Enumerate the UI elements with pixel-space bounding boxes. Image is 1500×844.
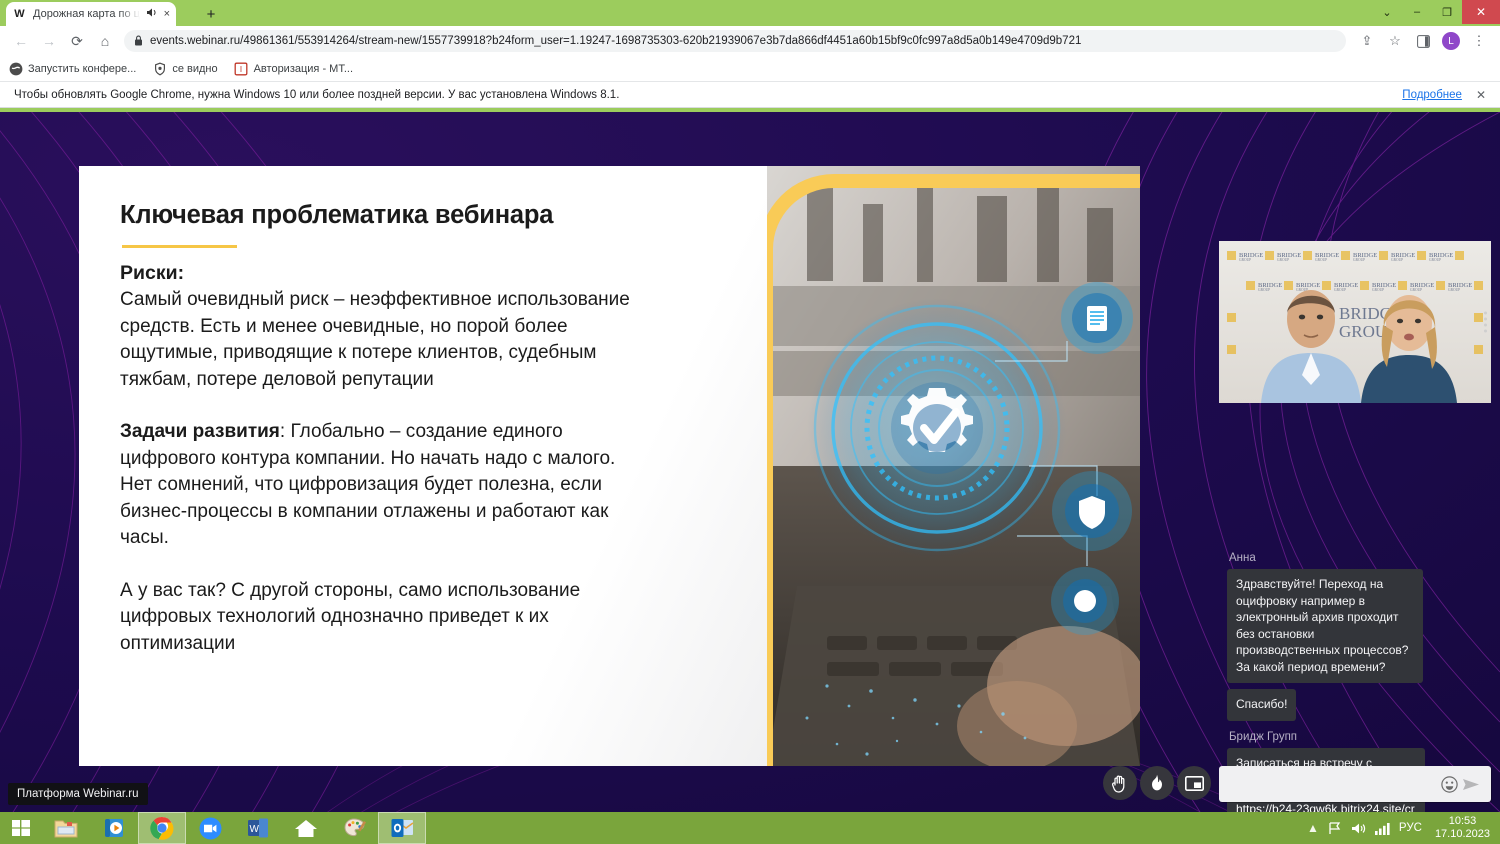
speaker-icon[interactable] bbox=[146, 7, 158, 21]
lock-icon bbox=[134, 35, 143, 48]
network-icon[interactable] bbox=[1328, 822, 1342, 835]
presenter-video[interactable]: BRIDGEBRIDGE BRIDGEBRIDGE BRIDGEBRIDGE B… bbox=[1219, 241, 1491, 403]
infobar-learn-more-link[interactable]: Подробнее bbox=[1402, 89, 1462, 101]
windows-logo-icon bbox=[11, 818, 31, 838]
home-button[interactable]: ⌂ bbox=[92, 28, 118, 54]
svg-text:GROUP: GROUP bbox=[1391, 258, 1403, 262]
signal-bars-icon[interactable] bbox=[1375, 822, 1390, 835]
share-icon[interactable]: ⇪ bbox=[1354, 28, 1380, 54]
svg-text:GROUP: GROUP bbox=[1239, 258, 1251, 262]
bookmark-label: Запустить конфере... bbox=[28, 63, 136, 75]
status-tooltip: Платформа Webinar.ru bbox=[8, 783, 148, 805]
profile-avatar[interactable]: L bbox=[1442, 32, 1460, 50]
svg-text:GROUP: GROUP bbox=[1353, 258, 1365, 262]
clock[interactable]: 10:53 17.10.2023 bbox=[1431, 815, 1490, 841]
taskbar-apps: W bbox=[42, 812, 426, 844]
chat-input-wrapper[interactable] bbox=[1219, 766, 1491, 802]
bookmark-label: Авторизация - МТ... bbox=[254, 63, 353, 75]
chrome-browser-window: W Дорожная карта по цифров × + ⌄ – ❐ ✕ ←… bbox=[0, 0, 1500, 812]
svg-text:GROUP: GROUP bbox=[1258, 288, 1270, 292]
tab-close-icon[interactable]: × bbox=[164, 8, 170, 20]
paint-palette-icon bbox=[343, 817, 366, 840]
fire-reaction-button[interactable] bbox=[1140, 766, 1174, 800]
bookmark-item[interactable]: се видно bbox=[152, 61, 217, 76]
chrome-menu-icon[interactable]: ⋮ bbox=[1466, 28, 1492, 54]
slide-paragraph-goals: Задачи развития: Глобально – создание ед… bbox=[120, 419, 630, 552]
webinar-page: Ключевая проблематика вебинара Риски: Са… bbox=[0, 112, 1500, 812]
svg-text:GROUP: GROUP bbox=[1334, 288, 1346, 292]
bookmarks-bar: Запустить конфере... се видно I Авториза… bbox=[0, 56, 1500, 82]
bookmark-label: се видно bbox=[172, 63, 217, 75]
send-arrow-icon[interactable] bbox=[1460, 777, 1482, 792]
volume-icon[interactable] bbox=[1351, 822, 1366, 835]
infobar-actions: Подробнее ✕ bbox=[1402, 88, 1486, 102]
minimize-button[interactable]: – bbox=[1402, 0, 1432, 24]
side-panel-icon[interactable] bbox=[1410, 28, 1436, 54]
taskbar-item-file-explorer[interactable] bbox=[42, 812, 90, 844]
infobar-close-icon[interactable]: ✕ bbox=[1476, 88, 1486, 102]
slide-text-column: Ключевая проблематика вебинара Риски: Са… bbox=[79, 166, 767, 766]
tab-search-chevron-icon[interactable]: ⌄ bbox=[1372, 0, 1402, 24]
chat-author-name: Бридж Групп bbox=[1229, 731, 1492, 743]
taskbar-item-home-app[interactable] bbox=[282, 812, 330, 844]
clock-date: 17.10.2023 bbox=[1435, 828, 1490, 841]
browser-toolbar: ← → ⟳ ⌂ events.webinar.ru/49861361/55391… bbox=[0, 26, 1500, 56]
forward-button[interactable]: → bbox=[36, 28, 62, 54]
folder-icon bbox=[54, 817, 78, 839]
slide-subtitle-risks: Риски: bbox=[120, 262, 767, 285]
bookmark-item[interactable]: I Авторизация - МТ... bbox=[234, 61, 353, 76]
window-controls: ⌄ – ❐ ✕ bbox=[1372, 0, 1500, 24]
chat-input[interactable] bbox=[1228, 777, 1438, 791]
svg-text:GROUP: GROUP bbox=[1429, 258, 1441, 262]
taskbar-item-google-chrome[interactable] bbox=[138, 812, 186, 844]
raise-hand-button[interactable] bbox=[1103, 766, 1137, 800]
taskbar-item-microsoft-word[interactable]: W bbox=[234, 812, 282, 844]
chrome-icon bbox=[150, 816, 174, 840]
chat-message: Здравствуйте! Переход на оцифровку напри… bbox=[1221, 569, 1492, 683]
new-tab-button[interactable]: + bbox=[200, 3, 222, 25]
browser-tab[interactable]: W Дорожная карта по цифров × bbox=[6, 2, 176, 26]
svg-text:GROUP: GROUP bbox=[1410, 288, 1422, 292]
address-bar[interactable]: events.webinar.ru/49861361/553914264/str… bbox=[124, 30, 1346, 52]
system-tray: ▲ РУС 10:53 17.10.2023 bbox=[1307, 812, 1500, 844]
url-text: events.webinar.ru/49861361/553914264/str… bbox=[150, 35, 1081, 47]
outlook-icon bbox=[391, 817, 414, 839]
infobar-message: Чтобы обновлять Google Chrome, нужна Win… bbox=[14, 89, 619, 101]
reload-button[interactable]: ⟳ bbox=[64, 28, 90, 54]
webinar-bottom-bar bbox=[0, 756, 1500, 812]
globe-icon bbox=[8, 61, 23, 76]
svg-text:GROUP: GROUP bbox=[1315, 258, 1327, 262]
house-icon bbox=[294, 818, 318, 839]
picture-in-picture-button[interactable] bbox=[1177, 766, 1211, 800]
raised-hand-icon bbox=[1111, 774, 1129, 793]
svg-text:W: W bbox=[249, 824, 259, 835]
word-icon: W bbox=[247, 817, 269, 839]
tab-strip: W Дорожная карта по цифров × + ⌄ – ❐ ✕ bbox=[0, 0, 1500, 26]
chat-message-text: Спасибо! bbox=[1227, 689, 1296, 721]
slide-paragraph-risks: Самый очевидный риск – неэффективное исп… bbox=[120, 287, 630, 393]
svg-text:I: I bbox=[240, 65, 242, 74]
bookmark-star-icon[interactable]: ☆ bbox=[1382, 28, 1408, 54]
slide-image-column bbox=[767, 166, 1140, 766]
taskbar-item-media-player[interactable] bbox=[90, 812, 138, 844]
video-menu-dots-icon[interactable] bbox=[1484, 312, 1487, 333]
chat-message: Спасибо! bbox=[1221, 689, 1492, 721]
mt-icon: I bbox=[234, 61, 249, 76]
svg-text:GROUP: GROUP bbox=[1277, 258, 1289, 262]
back-button[interactable]: ← bbox=[8, 28, 34, 54]
presentation-slide[interactable]: Ключевая проблематика вебинара Риски: Са… bbox=[79, 166, 1140, 766]
pip-icon bbox=[1185, 776, 1204, 791]
taskbar-item-paint[interactable] bbox=[330, 812, 378, 844]
webinar-favicon-icon: W bbox=[12, 7, 27, 22]
chrome-update-infobar: Чтобы обновлять Google Chrome, нужна Win… bbox=[0, 82, 1500, 108]
taskbar-item-zoom[interactable] bbox=[186, 812, 234, 844]
svg-text:GROUP: GROUP bbox=[1448, 288, 1460, 292]
maximize-button[interactable]: ❐ bbox=[1432, 0, 1462, 24]
flame-icon bbox=[1149, 774, 1165, 793]
goals-label: Задачи развития bbox=[120, 421, 280, 442]
chat-author-name: Анна bbox=[1229, 552, 1492, 564]
slide-title: Ключевая проблематика вебинара bbox=[120, 201, 767, 230]
svg-text:GROUP: GROUP bbox=[1372, 288, 1384, 292]
windows-taskbar: W bbox=[0, 812, 1500, 844]
clock-time: 10:53 bbox=[1435, 815, 1490, 828]
language-indicator[interactable]: РУС bbox=[1399, 822, 1422, 834]
show-hidden-icons-button[interactable]: ▲ bbox=[1307, 821, 1319, 835]
taskbar-item-microsoft-outlook[interactable] bbox=[378, 812, 426, 844]
screen: W Дорожная карта по цифров × + ⌄ – ❐ ✕ ←… bbox=[0, 0, 1500, 844]
media-player-icon bbox=[103, 817, 125, 839]
laptop-hologram-photo bbox=[767, 166, 1140, 766]
title-underline-rule bbox=[122, 245, 237, 248]
emoji-smile-icon[interactable] bbox=[1438, 776, 1460, 793]
shield-icon bbox=[152, 61, 167, 76]
bookmark-item[interactable]: Запустить конфере... bbox=[8, 61, 136, 76]
start-button[interactable] bbox=[0, 812, 42, 844]
chat-message-text: Здравствуйте! Переход на оцифровку напри… bbox=[1227, 569, 1423, 683]
slide-paragraph-question: А у вас так? С другой стороны, само испо… bbox=[120, 578, 630, 658]
close-window-button[interactable]: ✕ bbox=[1462, 0, 1500, 24]
zoom-icon bbox=[199, 817, 222, 840]
tab-title: Дорожная карта по цифров bbox=[33, 8, 140, 20]
